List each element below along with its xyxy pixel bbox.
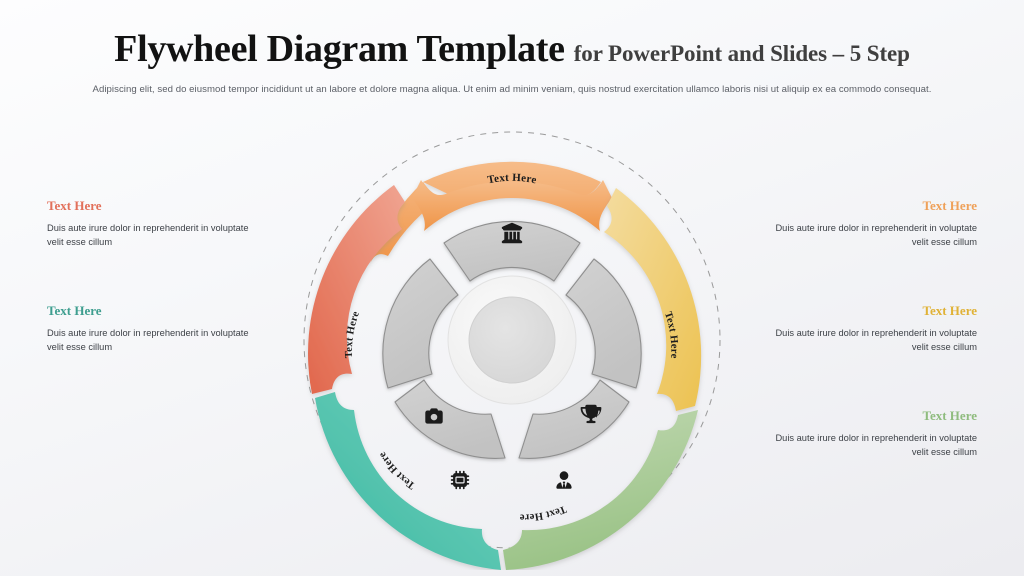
bank-icon [502,223,522,243]
page-title: Flywheel Diagram Templatefor PowerPoint … [0,30,1024,68]
outer-segment-bottom-right-label: Text Here [519,503,567,523]
side-block-body: Duis aute irure dolor in reprehenderit i… [47,221,257,250]
hub-inner [469,297,555,383]
title-main: Flywheel Diagram Template [114,28,565,70]
header: Flywheel Diagram Templatefor PowerPoint … [0,0,1024,95]
side-block-left-1: Text Here Duis aute irure dolor in repre… [47,198,257,250]
microchip-icon [451,471,469,489]
header-description: Adipiscing elit, sed do eiusmod tempor i… [0,84,1024,95]
inner-segment-camera[interactable] [383,259,458,388]
side-block-left-2: Text Here Duis aute irure dolor in repre… [47,303,257,355]
side-block-body: Duis aute irure dolor in reprehenderit i… [47,326,257,355]
title-subtitle: for PowerPoint and Slides – 5 Step [574,41,910,66]
user-icon [556,471,571,488]
slide-canvas: Flywheel Diagram Templatefor PowerPoint … [0,0,1024,576]
side-block-right-2: Text Here Duis aute irure dolor in repre… [767,303,977,355]
side-block-title: Text Here [47,198,257,214]
side-block-title: Text Here [767,408,977,424]
side-block-title: Text Here [47,303,257,319]
inner-segment-trophy[interactable] [566,259,641,388]
side-block-title: Text Here [767,198,977,214]
side-block-body: Duis aute irure dolor in reprehenderit i… [767,431,977,460]
side-block-right-1: Text Here Duis aute irure dolor in repre… [767,198,977,250]
side-block-body: Duis aute irure dolor in reprehenderit i… [767,326,977,355]
side-block-right-3: Text Here Duis aute irure dolor in repre… [767,408,977,460]
side-block-body: Duis aute irure dolor in reprehenderit i… [767,221,977,250]
flywheel-diagram: Text Here Text Here Text Here Text Here … [282,110,742,570]
side-block-title: Text Here [767,303,977,319]
